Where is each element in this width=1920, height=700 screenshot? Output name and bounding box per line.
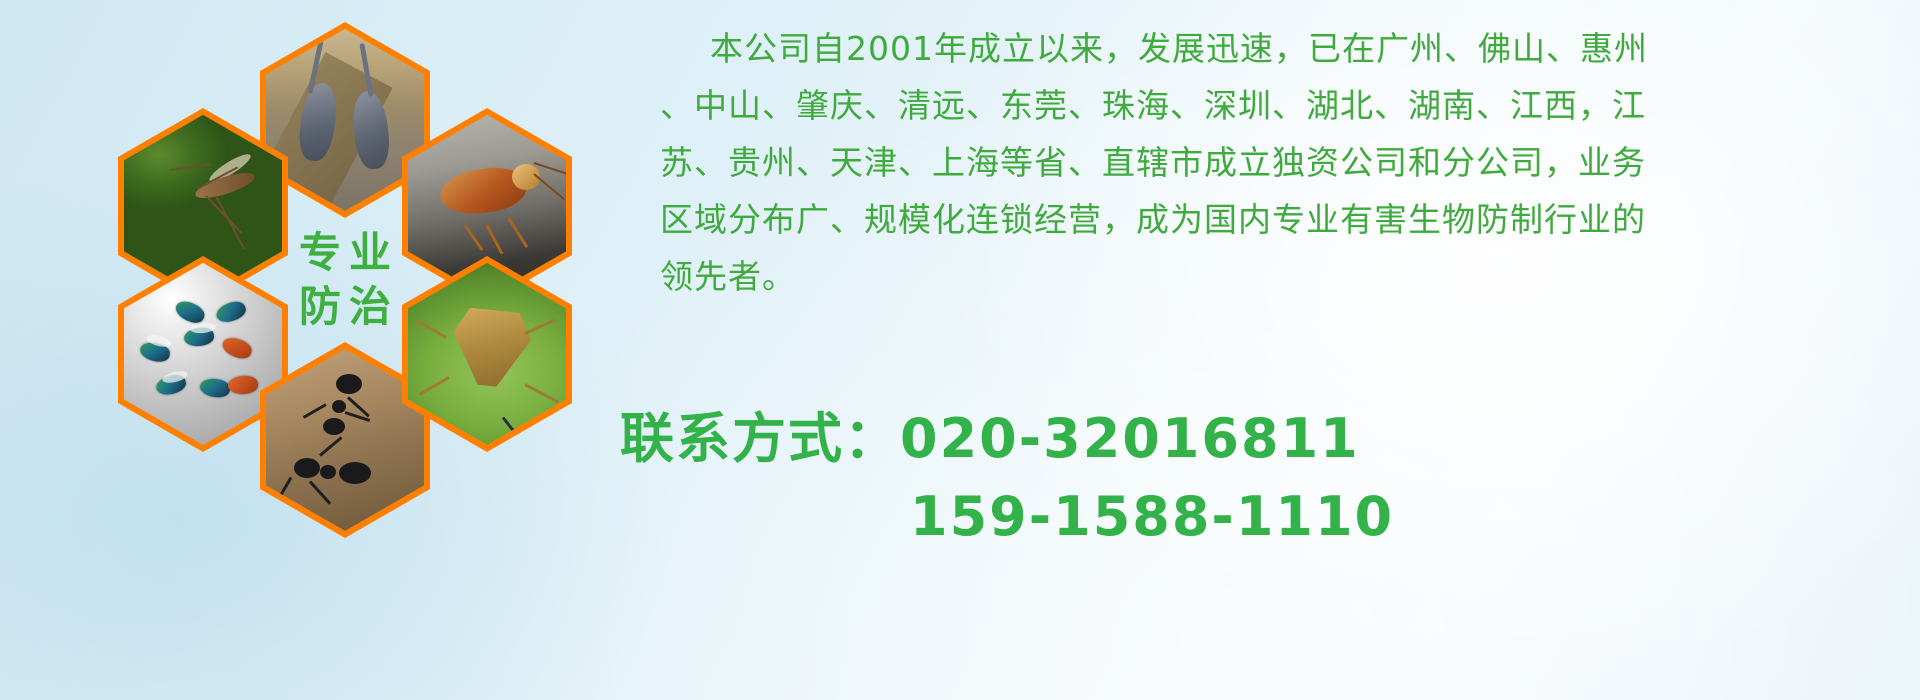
paragraph-line-2: 、中山、肇庆、清远、东莞、珠海、深圳、湖北、湖南、江西，江	[660, 77, 1900, 134]
contact-block: 联系方式：020-32016811 159-1588-1110	[620, 400, 1920, 556]
honeycomb-photo-cluster: 专业 防治	[96, 8, 596, 588]
company-description: 本公司自2001年成立以来，发展迅速，已在广州、佛山、惠州 、中山、肇庆、清远、…	[660, 20, 1900, 305]
flies-photo	[124, 263, 282, 445]
stinkbug-photo	[408, 263, 566, 445]
paragraph-line-5: 领先者。	[660, 248, 1900, 305]
hex-tile-flies-inner	[124, 263, 282, 445]
promo-banner: 专业 防治 本公司自2001年成立以来，发展迅速，已在广州、佛山、惠州 、中山、…	[0, 0, 1920, 700]
center-label-line-1: 专业	[291, 231, 399, 275]
paragraph-line-3: 苏、贵州、天津、上海等省、直辖市成立独资公司和分公司，业务	[660, 134, 1900, 191]
description-paragraph: 本公司自2001年成立以来，发展迅速，已在广州、佛山、惠州 、中山、肇庆、清远、…	[660, 20, 1900, 305]
contact-mobile-line[interactable]: 159-1588-1110	[620, 478, 1920, 556]
honeycomb-center-label: 专业 防治	[260, 182, 430, 378]
center-label-line-2: 防治	[291, 285, 399, 329]
contact-primary-line[interactable]: 联系方式：020-32016811	[620, 400, 1920, 478]
paragraph-line-4: 区域分布广、规模化连锁经营，成为国内专业有害生物防制行业的	[660, 191, 1900, 248]
hex-tile-stinkbug-inner	[408, 263, 566, 445]
paragraph-line-1: 本公司自2001年成立以来，发展迅速，已在广州、佛山、惠州	[660, 20, 1900, 77]
